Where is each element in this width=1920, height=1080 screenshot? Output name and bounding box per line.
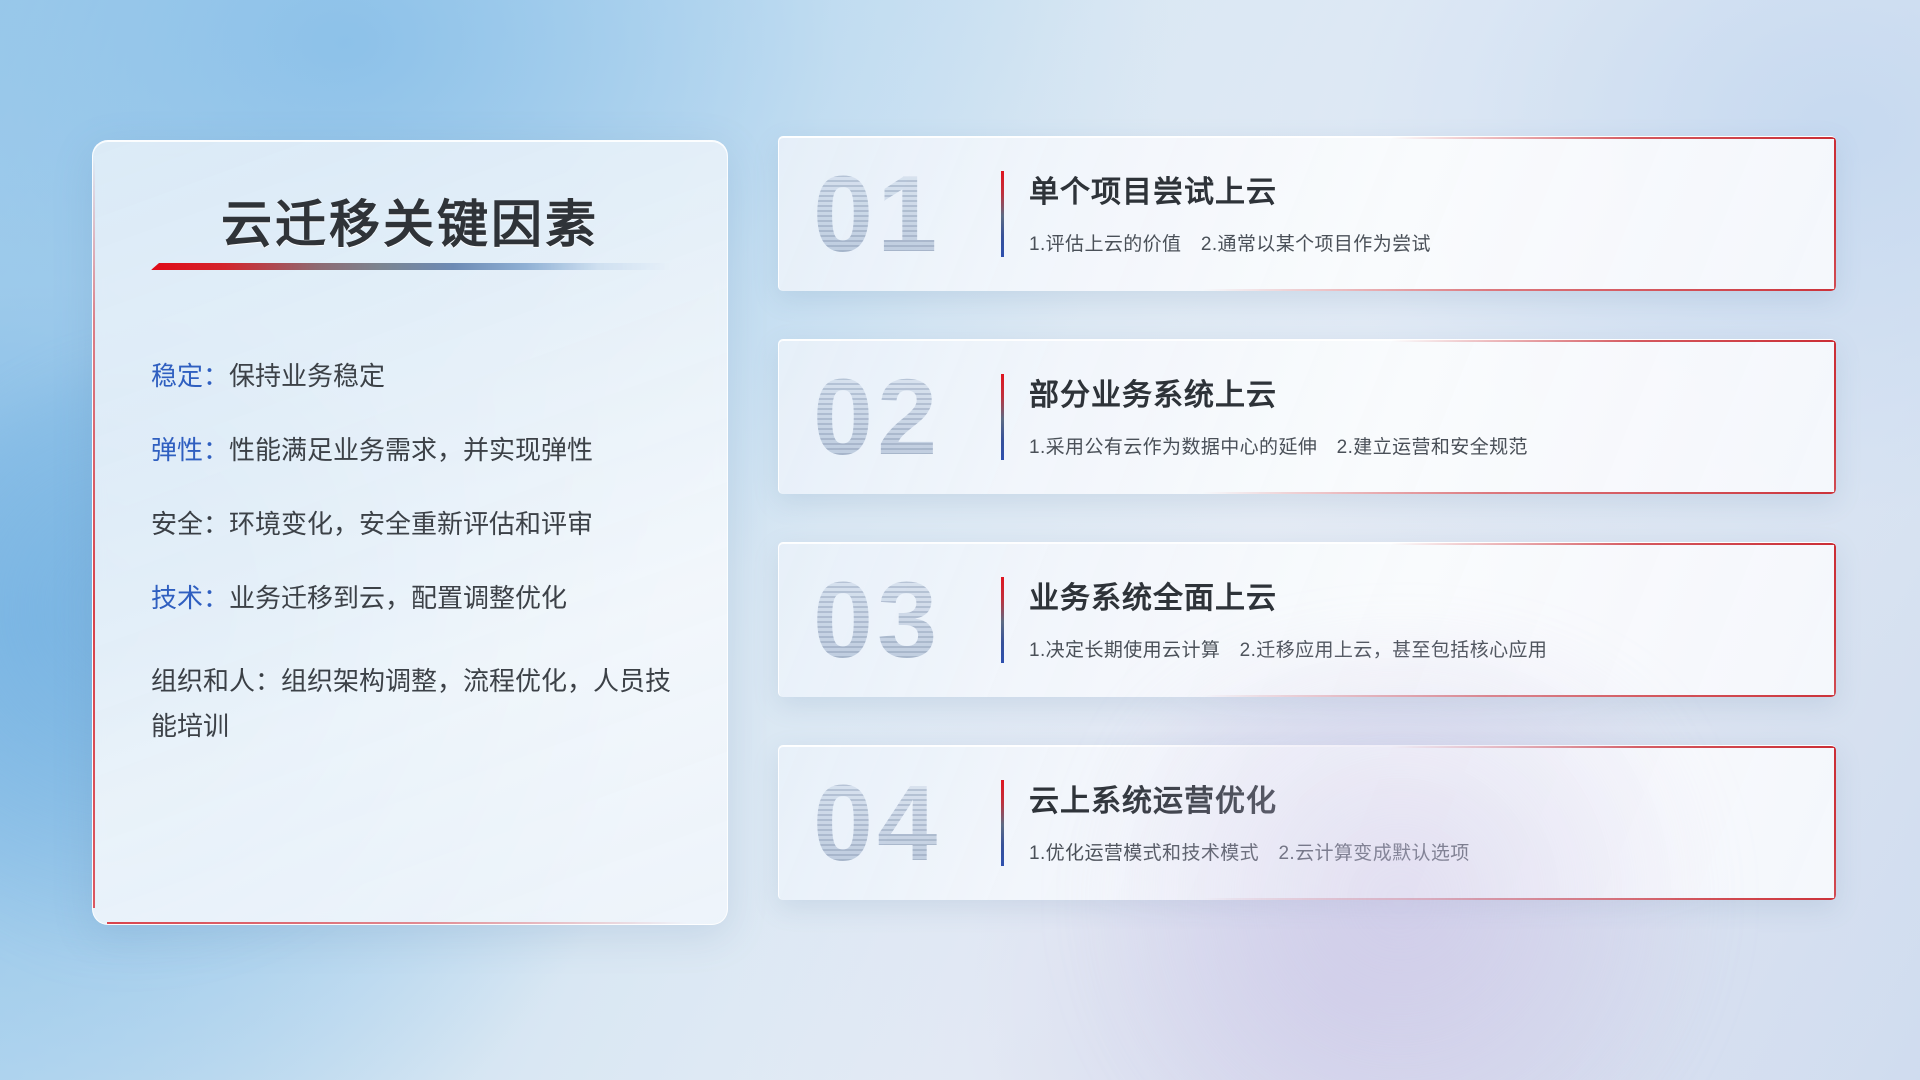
step-divider-bar: [1001, 374, 1004, 460]
step-card-01[interactable]: 01 单个项目尝试上云 1.评估上云的价值 2.通常以某个项目作为尝试: [778, 136, 1836, 291]
step-description: 1.优化运营模式和技术模式 2.云计算变成默认选项: [1029, 838, 1808, 865]
key-factors-list: 稳定：保持业务稳定 弹性：性能满足业务需求，并实现弹性 安全：环境变化，安全重新…: [151, 363, 697, 796]
list-item: 安全：环境变化，安全重新评估和评审: [151, 511, 697, 537]
factor-text: 性能满足业务需求，并实现弹性: [229, 435, 593, 465]
step-card-03[interactable]: 03 业务系统全面上云 1.决定长期使用云计算 2.迁移应用上云，甚至包括核心应…: [778, 542, 1836, 697]
title-accent-bar: [151, 263, 671, 270]
step-title: 业务系统全面上云: [1029, 573, 1808, 617]
key-factors-panel: 云迁移关键因素 稳定：保持业务稳定 弹性：性能满足业务需求，并实现弹性 安全：环…: [92, 140, 728, 925]
step-card-04[interactable]: 04 云上系统运营优化 1.优化运营模式和技术模式 2.云计算变成默认选项: [778, 745, 1836, 900]
card-right-accent-line: [1834, 746, 1836, 900]
factor-label: 弹性：: [151, 435, 229, 465]
list-item: 组织和人：组织架构调整，流程优化，人员技能培训: [151, 659, 697, 748]
panel-title: 云迁移关键因素: [93, 183, 727, 257]
list-item: 技术：业务迁移到云，配置调整优化: [151, 585, 697, 611]
card-bottom-accent-line: [1202, 898, 1836, 900]
factor-text: 保持业务稳定: [229, 361, 385, 391]
panel-left-accent-line: [93, 157, 95, 908]
step-description: 1.评估上云的价值 2.通常以某个项目作为尝试: [1029, 229, 1808, 256]
step-card-02[interactable]: 02 部分业务系统上云 1.采用公有云作为数据中心的延伸 2.建立运营和安全规范: [778, 339, 1836, 494]
migration-steps-list: 01 单个项目尝试上云 1.评估上云的价值 2.通常以某个项目作为尝试 02 部…: [778, 136, 1836, 948]
step-title: 部分业务系统上云: [1029, 370, 1808, 414]
step-title: 云上系统运营优化: [1029, 776, 1808, 820]
card-right-accent-line: [1834, 340, 1836, 494]
step-divider-bar: [1001, 577, 1004, 663]
step-description: 1.采用公有云作为数据中心的延伸 2.建立运营和安全规范: [1029, 432, 1808, 459]
step-body: 业务系统全面上云 1.决定长期使用云计算 2.迁移应用上云，甚至包括核心应用: [1029, 573, 1808, 662]
step-title: 单个项目尝试上云: [1029, 167, 1808, 211]
factor-label: 安全：: [151, 509, 229, 539]
panel-bottom-accent-line: [107, 922, 687, 924]
step-number: 04: [813, 769, 941, 877]
step-body: 部分业务系统上云 1.采用公有云作为数据中心的延伸 2.建立运营和安全规范: [1029, 370, 1808, 459]
card-top-accent-line: [1392, 340, 1836, 342]
step-body: 单个项目尝试上云 1.评估上云的价值 2.通常以某个项目作为尝试: [1029, 167, 1808, 256]
card-right-accent-line: [1834, 543, 1836, 697]
card-bottom-accent-line: [1202, 695, 1836, 697]
step-description: 1.决定长期使用云计算 2.迁移应用上云，甚至包括核心应用: [1029, 635, 1808, 662]
factor-text: 业务迁移到云，配置调整优化: [229, 583, 567, 613]
card-top-accent-line: [1392, 746, 1836, 748]
step-number: 03: [813, 566, 941, 674]
step-number: 01: [813, 160, 941, 268]
card-bottom-accent-line: [1202, 289, 1836, 291]
list-item: 稳定：保持业务稳定: [151, 363, 697, 389]
list-item: 弹性：性能满足业务需求，并实现弹性: [151, 437, 697, 463]
card-bottom-accent-line: [1202, 492, 1836, 494]
factor-label: 技术：: [151, 583, 229, 613]
card-right-accent-line: [1834, 137, 1836, 291]
step-number: 02: [813, 363, 941, 471]
step-divider-bar: [1001, 171, 1004, 257]
step-body: 云上系统运营优化 1.优化运营模式和技术模式 2.云计算变成默认选项: [1029, 776, 1808, 865]
slide-canvas: 云迁移关键因素 稳定：保持业务稳定 弹性：性能满足业务需求，并实现弹性 安全：环…: [0, 0, 1920, 1080]
factor-text: 环境变化，安全重新评估和评审: [229, 509, 593, 539]
factor-label: 稳定：: [151, 361, 229, 391]
step-divider-bar: [1001, 780, 1004, 866]
card-top-accent-line: [1392, 543, 1836, 545]
factor-label: 组织和人：: [151, 666, 281, 696]
card-top-accent-line: [1392, 137, 1836, 139]
